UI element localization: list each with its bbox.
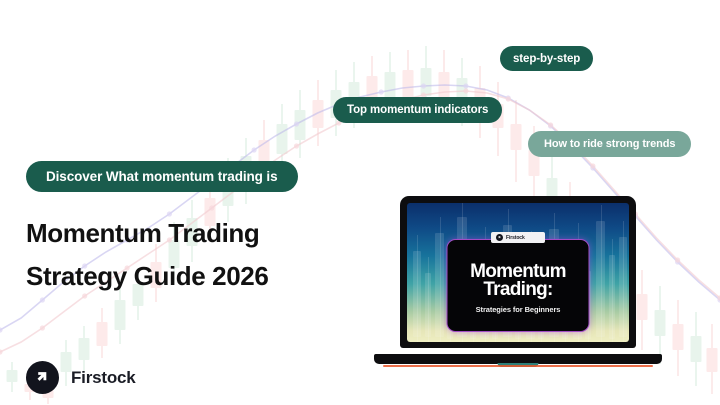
badge-indicators-label: Top momentum indicators [347, 104, 488, 116]
laptop-mockup: Firstock Momentum Trading: Strategies fo… [374, 196, 662, 372]
screen-card-title: Momentum Trading: [470, 263, 566, 299]
firstock-arrow-icon [496, 234, 503, 241]
brand-name: Firstock [71, 368, 136, 388]
firstock-arrow-icon [26, 361, 59, 394]
brand-logo-lockup[interactable]: Firstock [26, 361, 136, 394]
page-title-line-2: Strategy Guide 2026 [26, 255, 268, 298]
screen-card-title-line-2: Trading: [470, 281, 566, 299]
badge-trends-label: How to ride strong trends [544, 138, 675, 150]
screen-candle-wick [428, 257, 429, 342]
badge-discover[interactable]: Discover What momentum trading is [26, 161, 298, 192]
screen-brand-badge: Firstock [491, 232, 545, 243]
badge-top-momentum-indicators[interactable]: Top momentum indicators [333, 97, 502, 123]
screen-brand-label: Firstock [506, 235, 525, 241]
laptop-lid: Firstock Momentum Trading: Strategies fo… [400, 196, 636, 348]
screen-content-card: Momentum Trading: Strategies for Beginne… [447, 239, 590, 332]
page-title-line-1: Momentum Trading [26, 212, 268, 255]
screen-candle-wick [612, 239, 613, 342]
screen-candle-wick [440, 217, 441, 342]
badge-step-by-step-label: step-by-step [513, 53, 580, 65]
screen-candle-wick [601, 205, 602, 342]
laptop-screen: Firstock Momentum Trading: Strategies fo… [407, 203, 629, 342]
screen-candle-wick [417, 235, 418, 342]
badge-step-by-step[interactable]: step-by-step [500, 46, 593, 71]
screen-candle-wick [623, 221, 624, 342]
promo-banner: Discover What momentum trading is Top mo… [0, 0, 720, 405]
screen-card-subtitle: Strategies for Beginners [476, 305, 561, 314]
badge-how-to-ride-strong-trends[interactable]: How to ride strong trends [528, 131, 691, 157]
badge-discover-label: Discover What momentum trading is [46, 169, 278, 184]
page-title: Momentum Trading Strategy Guide 2026 [26, 212, 268, 298]
laptop-accent-line [383, 365, 653, 367]
